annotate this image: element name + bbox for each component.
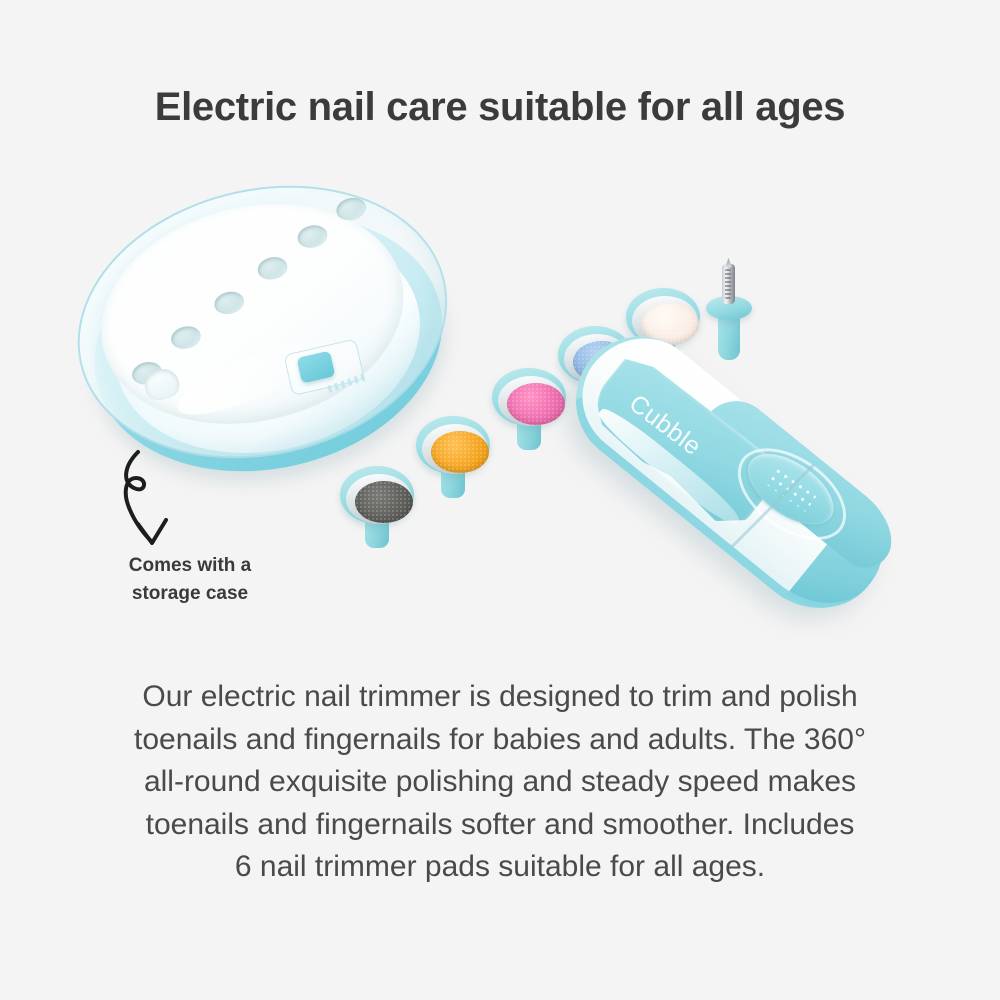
tip-point xyxy=(725,258,732,267)
charcoal-grit-pad xyxy=(338,460,416,552)
description-line-1: Our electric nail trimmer is designed to… xyxy=(60,676,940,719)
product-description: Our electric nail trimmer is designed to… xyxy=(60,676,940,889)
pad-surface xyxy=(431,431,489,473)
orange-pad xyxy=(414,410,492,502)
case-recess xyxy=(169,323,203,351)
case-recess xyxy=(255,254,289,282)
curved-loop-arrow-icon xyxy=(108,448,218,558)
storage-case-callout: Comes with a storage case xyxy=(60,552,320,607)
case-recess xyxy=(295,222,329,250)
pad-metal-ring xyxy=(422,424,488,474)
pad-cup xyxy=(416,416,490,474)
description-line-3: all-round exquisite polishing and steady… xyxy=(60,761,940,804)
pad-metal-ring xyxy=(346,474,412,524)
description-line-5: 6 nail trimmer pads suitable for all age… xyxy=(60,846,940,889)
pad-surface xyxy=(355,481,413,523)
callout-line-1: Comes with a xyxy=(60,552,320,580)
infographic-page: Electric nail care suitable for all ages xyxy=(0,0,1000,1000)
case-recess xyxy=(212,289,246,317)
product-photo: Comes with a storage case xyxy=(0,170,1000,650)
description-line-2: toenails and fingernails for babies and … xyxy=(60,719,940,762)
tip-metal-bit xyxy=(722,264,735,304)
callout-line-2: storage case xyxy=(60,580,320,608)
pad-cup xyxy=(340,466,414,524)
description-line-4: toenails and fingernails softer and smoo… xyxy=(60,804,940,847)
page-title: Electric nail care suitable for all ages xyxy=(0,85,1000,129)
